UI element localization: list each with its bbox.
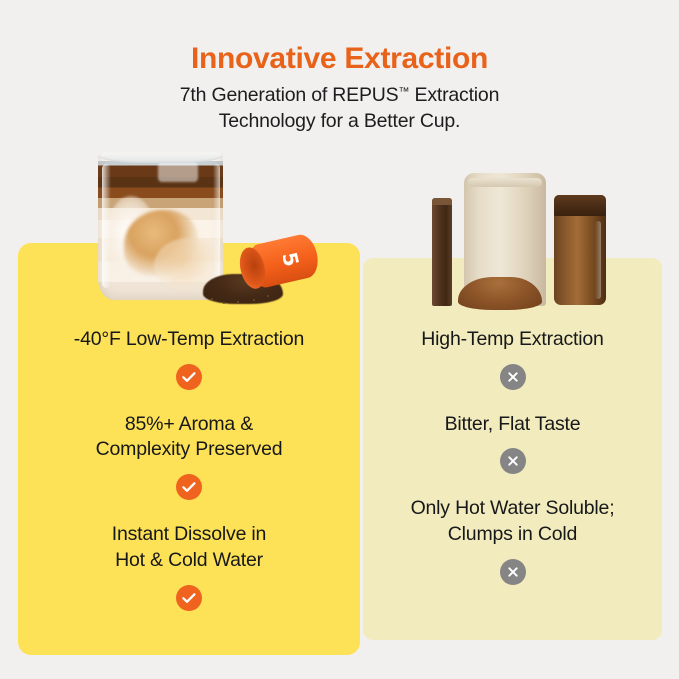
subtitle-text-after-tm: Extraction	[409, 84, 499, 106]
feature-label-line-1: Only Hot Water Soluble;	[373, 496, 652, 522]
subtitle-line-2: Technology for a Better Cup.	[0, 109, 679, 135]
cross-icon	[500, 559, 526, 585]
jar-cap	[554, 195, 606, 216]
header: Innovative Extraction 7th Generation of …	[0, 42, 679, 135]
granules-mound	[458, 277, 542, 310]
check-icon	[176, 474, 202, 500]
ice-cube	[158, 162, 198, 182]
list-item: Bitter, Flat Taste	[373, 412, 652, 475]
feature-label: Bitter, Flat Taste	[373, 412, 652, 438]
feature-label-line-1: Instant Dissolve in	[32, 522, 346, 548]
list-item: Only Hot Water Soluble; Clumps in Cold	[373, 496, 652, 584]
right-feature-list: High-Temp Extraction Bitter, Flat Taste …	[363, 327, 662, 585]
list-item: Instant Dissolve in Hot & Cold Water	[32, 522, 346, 610]
glass-glare-left	[102, 164, 111, 288]
subtitle-line-1: 7th Generation of REPUS™ Extraction	[0, 83, 679, 109]
feature-label: High-Temp Extraction	[373, 327, 652, 353]
feature-label: Only Hot Water Soluble; Clumps in Cold	[373, 496, 652, 547]
coffee-stick-sachet-icon	[432, 198, 452, 306]
feature-label: Instant Dissolve in Hot & Cold Water	[32, 522, 346, 573]
feature-label: 85%+ Aroma & Complexity Preserved	[32, 412, 346, 463]
page-subtitle: 7th Generation of REPUS™ Extraction Tech…	[0, 83, 679, 135]
instant-granules-pile-icon	[458, 273, 544, 310]
pouch-seal	[468, 178, 542, 187]
list-item: -40°F Low-Temp Extraction	[32, 327, 346, 390]
check-icon	[176, 585, 202, 611]
page-title: Innovative Extraction	[0, 42, 679, 75]
jar-glare	[595, 221, 601, 299]
feature-label-line-2: Clumps in Cold	[373, 522, 652, 548]
instant-coffee-jar-icon	[554, 195, 606, 305]
high-temp-extraction-column: High-Temp Extraction Bitter, Flat Taste …	[363, 258, 662, 640]
feature-label: -40°F Low-Temp Extraction	[32, 327, 346, 353]
right-product-artwork	[420, 165, 632, 310]
left-feature-list: -40°F Low-Temp Extraction 85%+ Aroma & C…	[18, 327, 360, 611]
feature-label-line-1: 85%+ Aroma &	[32, 412, 346, 438]
feature-label-line-2: Complexity Preserved	[32, 437, 346, 463]
cross-icon	[500, 448, 526, 474]
list-item: High-Temp Extraction	[373, 327, 652, 390]
cross-icon	[500, 364, 526, 390]
subtitle-text-before-tm: 7th Generation of REPUS	[180, 84, 399, 106]
glass-rim	[98, 152, 223, 163]
orange-cup-icon: 5	[236, 232, 322, 294]
check-icon	[176, 364, 202, 390]
list-item: 85%+ Aroma & Complexity Preserved	[32, 412, 346, 500]
left-product-artwork: 5	[85, 150, 335, 305]
feature-label-line-2: Hot & Cold Water	[32, 548, 346, 574]
trademark-icon: ™	[398, 86, 409, 98]
